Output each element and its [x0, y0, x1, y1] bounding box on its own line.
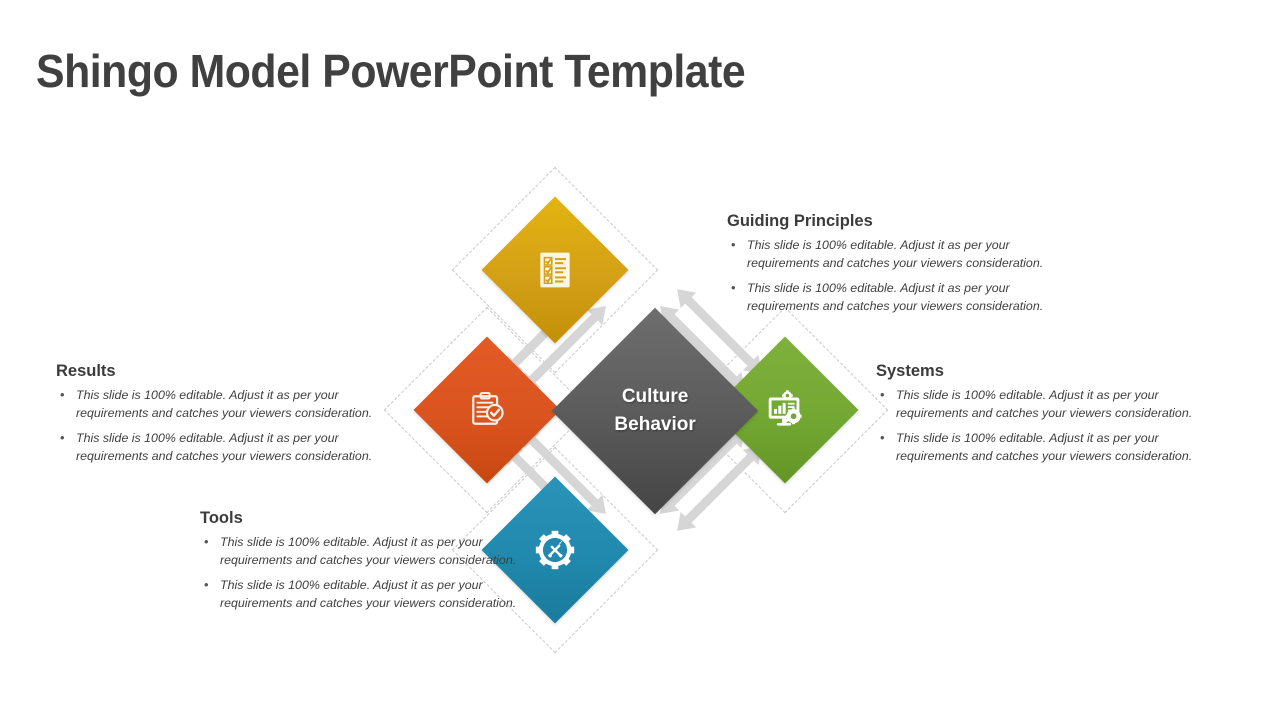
section-guiding-principles: Guiding Principles This slide is 100% ed… [727, 212, 1067, 315]
center-diamond-label: Culture Behavior [614, 383, 695, 438]
list-item: This slide is 100% editable. Adjust it a… [200, 577, 535, 612]
bullet-list-systems: This slide is 100% editable. Adjust it a… [876, 387, 1211, 465]
bullet-list-results: This slide is 100% editable. Adjust it a… [56, 387, 386, 465]
monitor-chart-gear-icon [762, 387, 808, 433]
section-heading-results: Results [56, 362, 386, 381]
list-item: This slide is 100% editable. Adjust it a… [876, 387, 1211, 422]
clipboard-check-icon [465, 388, 509, 432]
list-item: This slide is 100% editable. Adjust it a… [56, 430, 386, 465]
section-heading-systems: Systems [876, 362, 1211, 381]
list-item: This slide is 100% editable. Adjust it a… [727, 237, 1067, 272]
gear-tools-icon [532, 527, 578, 573]
list-item: This slide is 100% editable. Adjust it a… [200, 534, 535, 569]
section-results: Results This slide is 100% editable. Adj… [56, 362, 386, 465]
bullet-list-tools: This slide is 100% editable. Adjust it a… [200, 534, 535, 612]
list-item: This slide is 100% editable. Adjust it a… [727, 280, 1067, 315]
bullet-list-guiding-principles: This slide is 100% editable. Adjust it a… [727, 237, 1067, 315]
list-item: This slide is 100% editable. Adjust it a… [876, 430, 1211, 465]
section-systems: Systems This slide is 100% editable. Adj… [876, 362, 1211, 465]
page-title: Shingo Model PowerPoint Template [36, 44, 745, 98]
section-tools: Tools This slide is 100% editable. Adjus… [200, 509, 535, 612]
checklist-document-icon [533, 248, 577, 292]
section-heading-guiding-principles: Guiding Principles [727, 212, 1067, 231]
center-label-line2: Behavior [614, 411, 695, 439]
center-label-line1: Culture [614, 383, 695, 411]
section-heading-tools: Tools [200, 509, 535, 528]
list-item: This slide is 100% editable. Adjust it a… [56, 387, 386, 422]
